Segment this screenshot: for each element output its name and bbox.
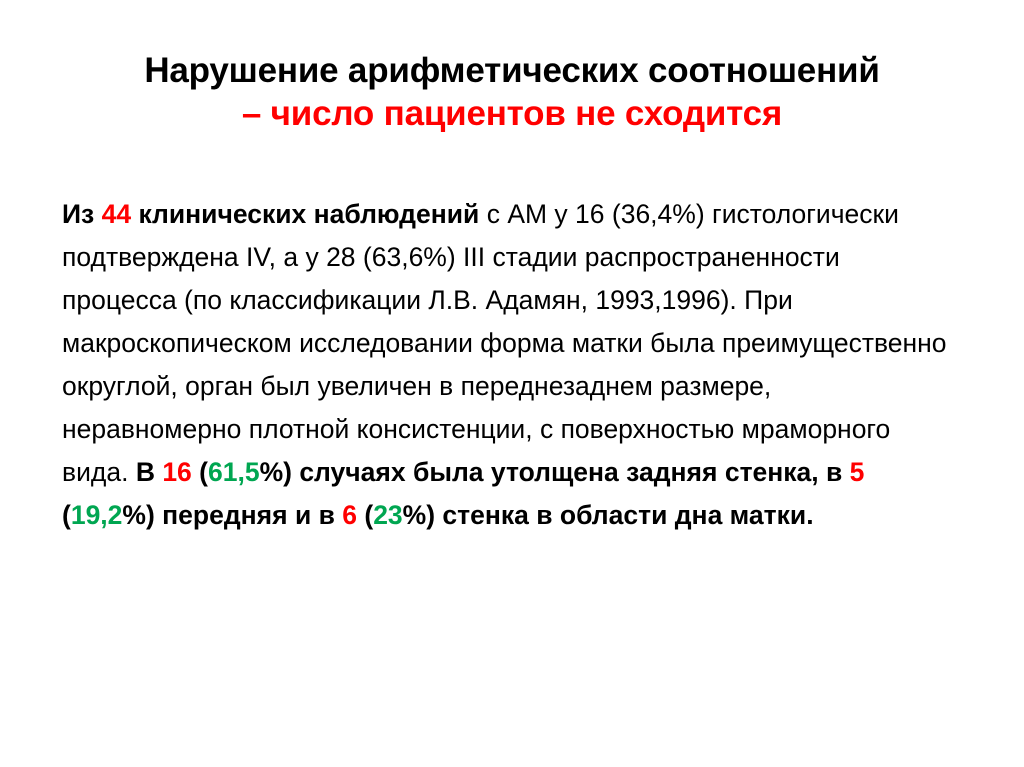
slide-title: Нарушение арифметических соотношений – ч…	[0, 0, 1024, 135]
body-seg-4: с АМ у 16 (36,4%) гистологически подтвер…	[62, 199, 947, 487]
body-seg-5: В	[136, 457, 163, 487]
body-seg-15: (	[357, 500, 373, 530]
body-seg-10-count: 5	[850, 457, 865, 487]
body-seg-13: %) передняя и в	[122, 500, 342, 530]
body-seg-12-percent: 19,2	[71, 500, 123, 530]
body-seg-8-percent: 61,5	[208, 457, 260, 487]
body-seg-1: Из	[62, 199, 102, 229]
body-seg-9: %) случаях была утолщена задняя стенка, …	[260, 457, 850, 487]
body-seg-16-percent: 23	[373, 500, 402, 530]
slide-canvas: Нарушение арифметических соотношений – ч…	[0, 0, 1024, 767]
body-seg-11: (	[62, 500, 71, 530]
body-seg-7: (	[192, 457, 208, 487]
title-line-secondary: – число пациентов не сходится	[60, 93, 964, 136]
slide-body: Из 44 клинических наблюдений с АМ у 16 (…	[0, 193, 1024, 536]
body-seg-17: %) стенка в области дна матки.	[403, 500, 814, 530]
body-seg-2-count: 44	[102, 199, 131, 229]
body-seg-6-count: 16	[162, 457, 191, 487]
body-seg-14-count: 6	[342, 500, 357, 530]
body-paragraph: Из 44 клинических наблюдений с АМ у 16 (…	[62, 193, 954, 536]
title-line-primary: Нарушение арифметических соотношений	[60, 50, 964, 93]
body-seg-3: клинических наблюдений	[131, 199, 479, 229]
